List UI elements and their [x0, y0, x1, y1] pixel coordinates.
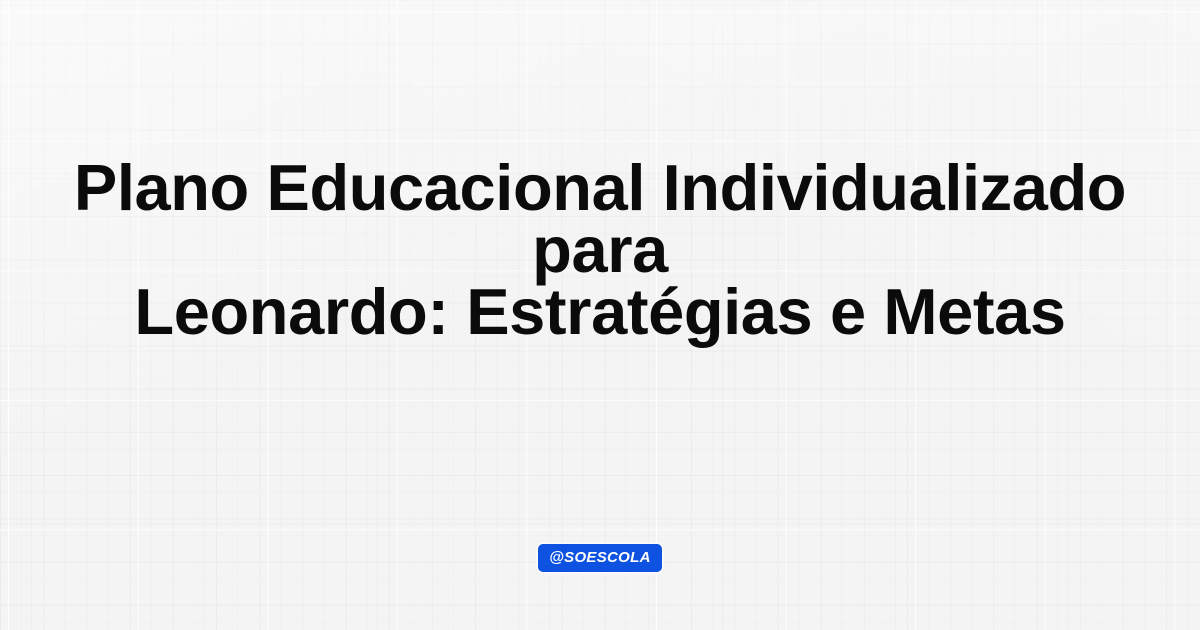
watermark-badge[interactable]: @SOESCOLA [538, 544, 662, 572]
og-image-canvas: Plano Educacional Individualizado para L… [0, 0, 1200, 630]
page-title: Plano Educacional Individualizado para L… [12, 157, 1188, 343]
title-block: Plano Educacional Individualizado para L… [0, 0, 1200, 500]
watermark-row: @SOESCOLA [0, 544, 1200, 572]
